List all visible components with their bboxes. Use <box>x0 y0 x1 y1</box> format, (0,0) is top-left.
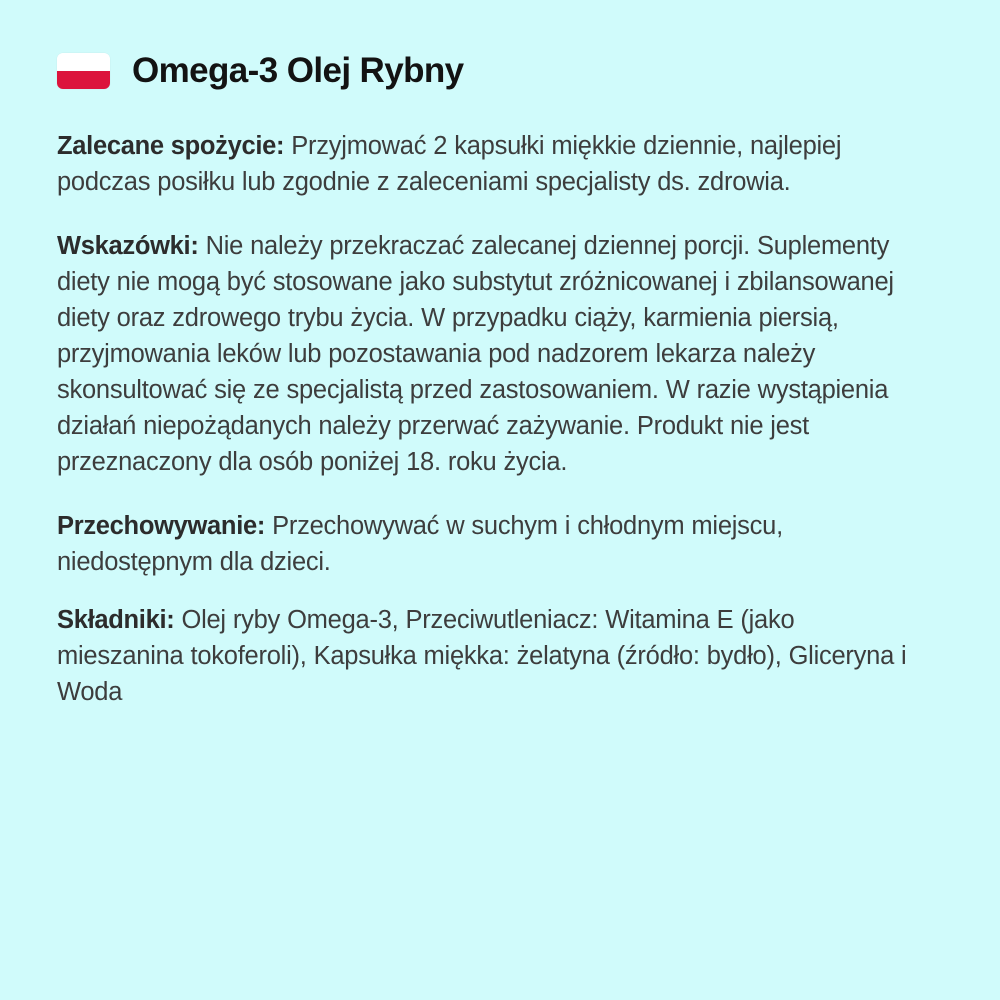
product-header: Omega-3 Olej Rybny <box>57 48 942 94</box>
label-content: Zalecane spożycie: Przyjmować 2 kapsułki… <box>57 128 909 710</box>
flag-band-red <box>57 71 110 89</box>
section-label-recommended-usage: Zalecane spożycie: <box>57 132 284 160</box>
section-body-warnings: Nie należy przekraczać zalecanej dzienne… <box>57 232 894 476</box>
section-ingredients: Składniki: Olej ryby Omega-3, Przeciwutl… <box>57 602 909 710</box>
section-storage: Przechowywanie: Przechowywać w suchym i … <box>57 508 909 580</box>
section-recommended-usage: Zalecane spożycie: Przyjmować 2 kapsułki… <box>57 128 909 200</box>
section-body-ingredients: Olej ryby Omega-3, Przeciwutleniacz: Wit… <box>57 606 906 706</box>
page-title: Omega-3 Olej Rybny <box>132 51 464 91</box>
section-label-storage: Przechowywanie: <box>57 512 265 540</box>
flag-band-white <box>57 53 110 71</box>
section-label-warnings: Wskazówki: <box>57 232 199 260</box>
poland-flag-icon <box>57 53 110 89</box>
product-label-page: Omega-3 Olej Rybny Zalecane spożycie: Pr… <box>0 0 1000 1000</box>
section-label-ingredients: Składniki: <box>57 606 174 634</box>
section-warnings: Wskazówki: Nie należy przekraczać zaleca… <box>57 228 909 480</box>
